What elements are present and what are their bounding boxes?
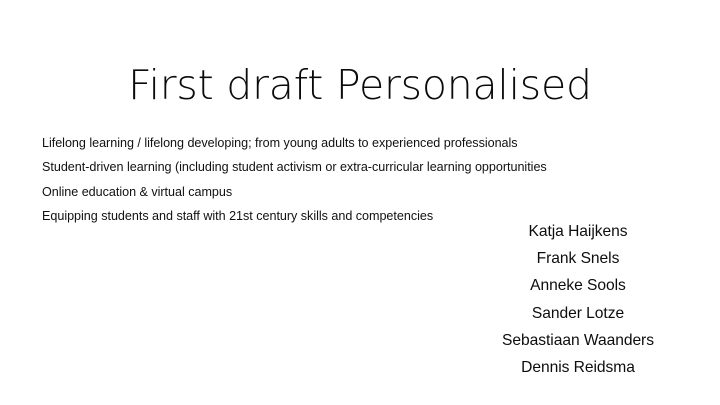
names-list: Katja Haijkens Frank Snels Anneke Sools … (458, 218, 698, 381)
list-item: Dennis Reidsma (458, 354, 698, 381)
list-item: Sander Lotze (458, 300, 698, 327)
presentation-slide: First draft Personalised Lifelong learni… (0, 0, 720, 405)
body-text-block: Lifelong learning / lifelong developing;… (42, 131, 642, 228)
list-item: Sebastiaan Waanders (458, 327, 698, 354)
list-item: Frank Snels (458, 245, 698, 272)
page-title: First draft Personalised (0, 60, 720, 110)
body-line: Lifelong learning / lifelong developing;… (42, 131, 642, 155)
body-line: Online education & virtual campus (42, 180, 642, 204)
list-item: Anneke Sools (458, 272, 698, 299)
body-line: Student-driven learning (including stude… (42, 155, 642, 179)
list-item: Katja Haijkens (458, 218, 698, 245)
